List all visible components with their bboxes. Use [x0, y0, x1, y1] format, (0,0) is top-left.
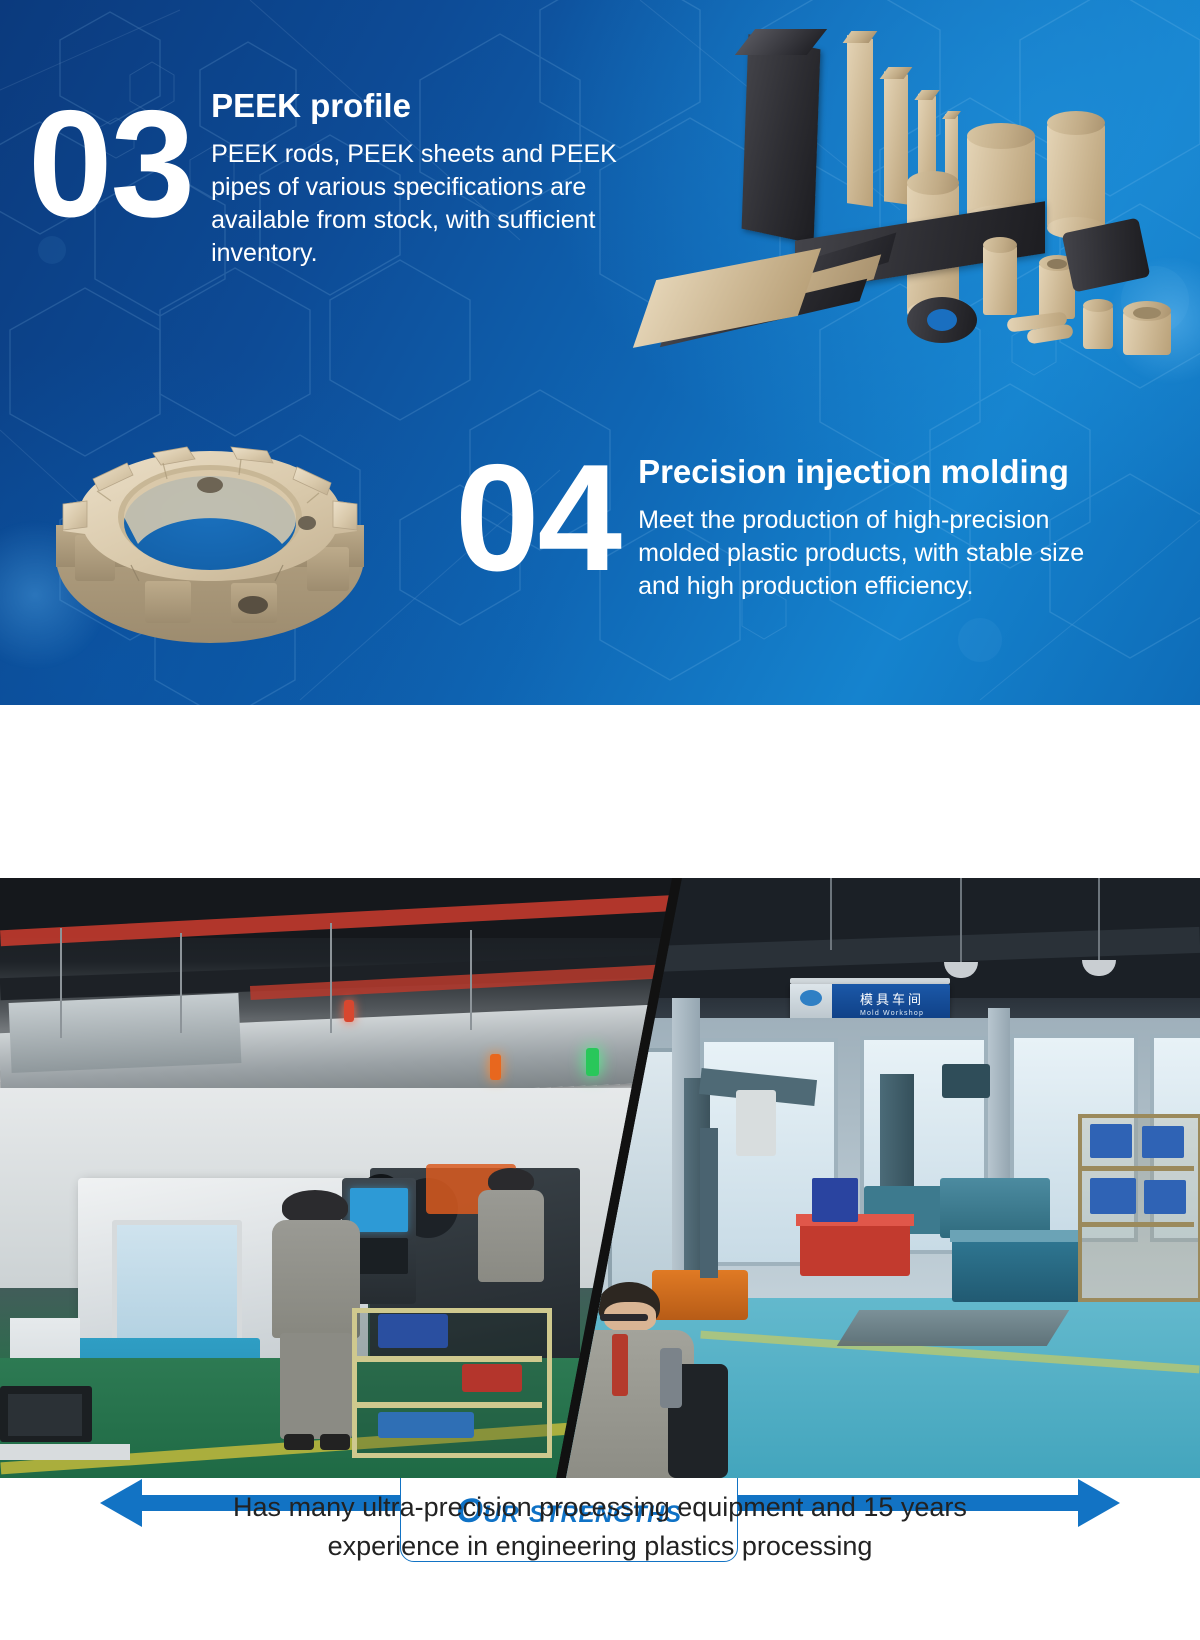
- caption-line-1: Has many ultra-precision processing equi…: [0, 1488, 1200, 1527]
- mold-workshop-sign-cn: 模具车间: [840, 990, 944, 1007]
- hero-panel: 03 PEEK profile PEEK rods, PEEK sheets a…: [0, 0, 1200, 705]
- marketing-page: 03 PEEK profile PEEK rods, PEEK sheets a…: [0, 0, 1200, 1640]
- feature-title-03: PEEK profile: [211, 88, 631, 124]
- page-caption: Has many ultra-precision processing equi…: [0, 1488, 1200, 1566]
- peek-gear-ring-photo: [35, 405, 385, 670]
- feature-body-04: Meet the production of high-precision mo…: [638, 504, 1108, 603]
- peek-profile-products-photo: [615, 15, 1195, 360]
- feature-block-03: 03 PEEK profile PEEK rods, PEEK sheets a…: [28, 78, 631, 270]
- feature-number-03: 03: [28, 88, 193, 240]
- caption-line-2: experience in engineering plastics proce…: [0, 1527, 1200, 1566]
- strengths-banner: Our strengths: [0, 705, 1200, 878]
- feature-block-04: 04 Precision injection molding Meet the …: [455, 440, 1108, 603]
- feature-body-03: PEEK rods, PEEK sheets and PEEK pipes of…: [211, 138, 631, 270]
- workshop-photo-strip: 模具车间 Mold Workshop: [0, 878, 1200, 1478]
- feature-number-04: 04: [455, 442, 620, 594]
- feature-title-04: Precision injection molding: [638, 454, 1108, 490]
